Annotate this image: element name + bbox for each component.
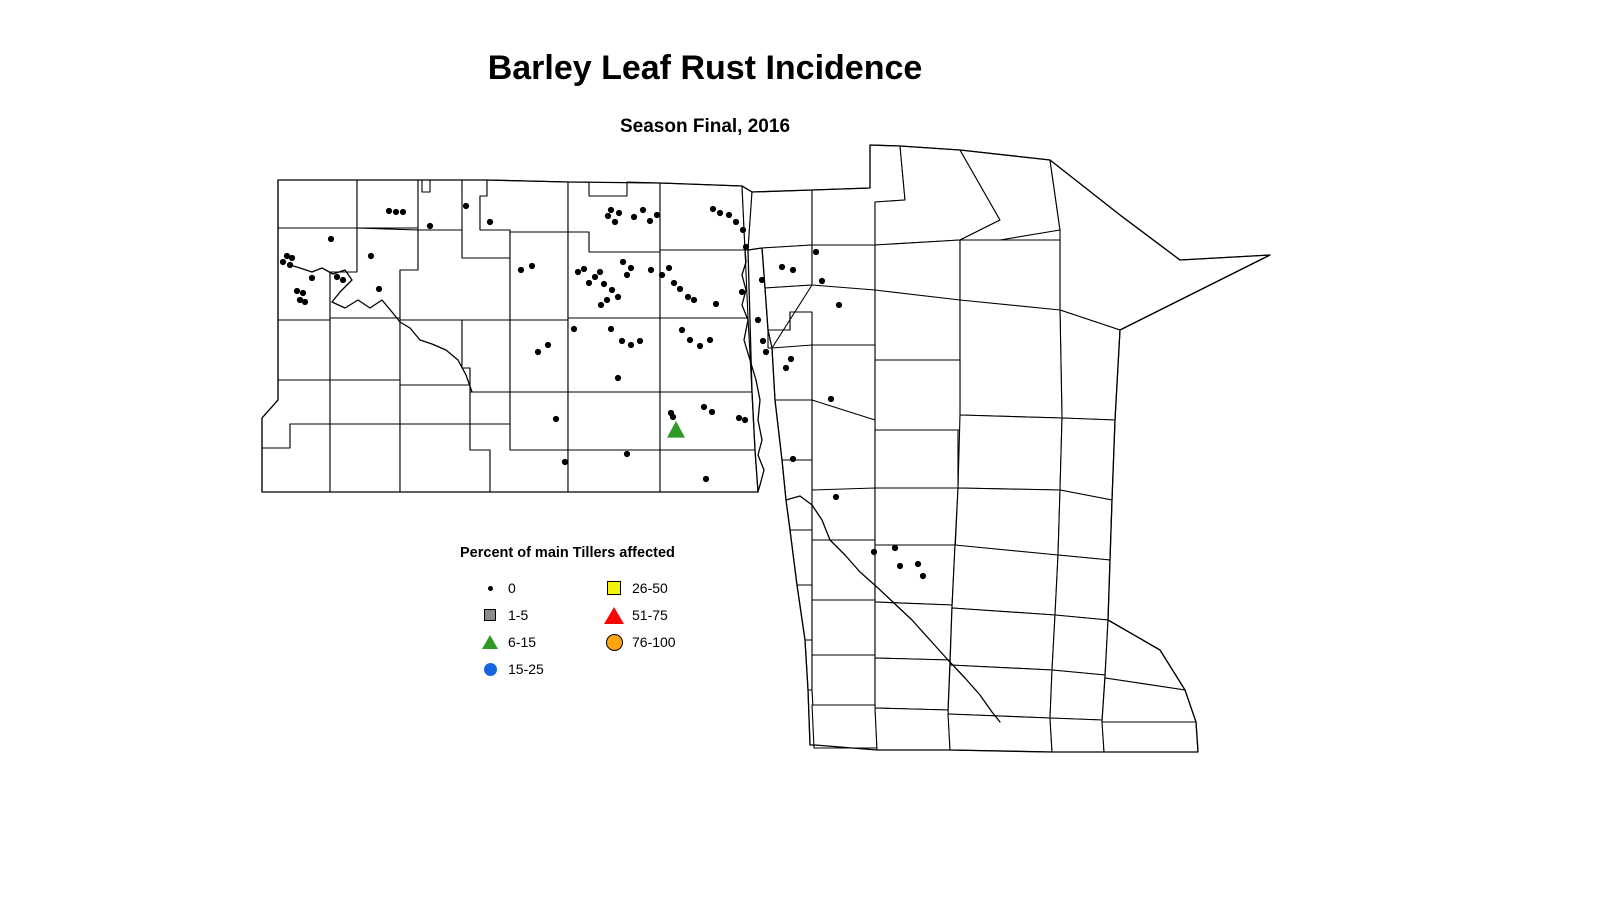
legend-label-0: 0 <box>508 580 516 596</box>
north-dakota-counties <box>262 180 758 492</box>
map-point-dot[interactable] <box>637 338 643 344</box>
map-page: Barley Leaf Rust Incidence Season Final,… <box>0 0 1612 900</box>
map-point-dot[interactable] <box>562 459 568 465</box>
map-point-dot[interactable] <box>386 208 392 214</box>
legend-label-51-75: 51-75 <box>632 607 668 623</box>
map-point-dot[interactable] <box>670 414 676 420</box>
map-point-dot[interactable] <box>604 297 610 303</box>
map-point-dot[interactable] <box>779 264 785 270</box>
map-point-dot[interactable] <box>920 573 926 579</box>
map-point-dot[interactable] <box>707 337 713 343</box>
map-point-dot[interactable] <box>739 289 745 295</box>
map-point-dot[interactable] <box>601 281 607 287</box>
map-point-dot[interactable] <box>836 302 842 308</box>
map-point-dot[interactable] <box>828 396 834 402</box>
map-point-dot[interactable] <box>659 272 665 278</box>
map-point-dot[interactable] <box>647 218 653 224</box>
map-point-dot[interactable] <box>892 545 898 551</box>
map-svg <box>0 0 1612 900</box>
map-point-dot[interactable] <box>300 290 306 296</box>
map-point-dot[interactable] <box>701 404 707 410</box>
map-point-dot[interactable] <box>581 266 587 272</box>
map-point-dot[interactable] <box>897 563 903 569</box>
minnesota-counties <box>748 145 1270 752</box>
map-point-dot[interactable] <box>615 294 621 300</box>
map-point-dot[interactable] <box>340 277 346 283</box>
map-point-dot[interactable] <box>640 207 646 213</box>
map-point-dot[interactable] <box>677 286 683 292</box>
map-point-dot[interactable] <box>819 278 825 284</box>
map-point-dot[interactable] <box>598 302 604 308</box>
legend-label-6-15: 6-15 <box>508 634 536 650</box>
legend-label-26-50: 26-50 <box>632 580 668 596</box>
map-point-dot[interactable] <box>529 263 535 269</box>
map-point-dot[interactable] <box>709 409 715 415</box>
map-point-dot[interactable] <box>620 259 626 265</box>
legend-label-1-5: 1-5 <box>508 607 528 623</box>
map-point-dot[interactable] <box>871 549 877 555</box>
map-point-dot[interactable] <box>813 249 819 255</box>
map-point-dot[interactable] <box>915 561 921 567</box>
map-point-dot[interactable] <box>575 269 581 275</box>
legend: Percent of main Tillers affected 0 1-5 6… <box>460 545 720 690</box>
map-point-dot[interactable] <box>788 356 794 362</box>
map-point-dot[interactable] <box>597 269 603 275</box>
map-canvas[interactable] <box>0 0 1612 900</box>
map-point-dot[interactable] <box>427 223 433 229</box>
map-point-dot[interactable] <box>833 494 839 500</box>
map-point-dot[interactable] <box>628 342 634 348</box>
map-point-dot[interactable] <box>759 277 765 283</box>
small-black-dot-icon <box>478 577 502 599</box>
map-point-dot[interactable] <box>619 338 625 344</box>
map-point-dot[interactable] <box>616 210 622 216</box>
map-point-dot[interactable] <box>717 210 723 216</box>
map-point-dot[interactable] <box>605 213 611 219</box>
map-point-dot[interactable] <box>571 326 577 332</box>
map-point-dot[interactable] <box>631 214 637 220</box>
map-point-dot[interactable] <box>393 209 399 215</box>
red-triangle-icon <box>602 604 626 626</box>
map-point-dot[interactable] <box>400 209 406 215</box>
map-point-dot[interactable] <box>679 327 685 333</box>
map-point-dot[interactable] <box>334 274 340 280</box>
map-point-dot[interactable] <box>733 219 739 225</box>
map-point-dot[interactable] <box>783 365 789 371</box>
map-point-dot[interactable] <box>518 267 524 273</box>
map-point-dot[interactable] <box>463 203 469 209</box>
map-point-dot[interactable] <box>713 301 719 307</box>
map-point-dot[interactable] <box>624 272 630 278</box>
map-point-dot[interactable] <box>609 287 615 293</box>
legend-label-76-100: 76-100 <box>632 634 676 650</box>
green-triangle-icon <box>478 631 502 653</box>
map-point-dot[interactable] <box>289 255 295 261</box>
blue-circle-icon <box>478 658 502 680</box>
map-point-dot[interactable] <box>545 342 551 348</box>
map-point-dot[interactable] <box>726 212 732 218</box>
map-point-dot[interactable] <box>790 456 796 462</box>
map-point-dot[interactable] <box>368 253 374 259</box>
map-point-dot[interactable] <box>535 349 541 355</box>
legend-label-15-25: 15-25 <box>508 661 544 677</box>
map-point-dot[interactable] <box>790 267 796 273</box>
map-point-dot[interactable] <box>376 286 382 292</box>
map-point-dot[interactable] <box>608 326 614 332</box>
map-point-dot[interactable] <box>487 219 493 225</box>
map-point-dot[interactable] <box>666 265 672 271</box>
map-point-dot[interactable] <box>710 206 716 212</box>
map-point-dot[interactable] <box>553 416 559 422</box>
map-point-dot[interactable] <box>687 337 693 343</box>
map-point-dot[interactable] <box>755 317 761 323</box>
map-point-dot[interactable] <box>703 476 709 482</box>
map-point-dot[interactable] <box>309 275 315 281</box>
map-point-dot[interactable] <box>763 349 769 355</box>
map-point-dot[interactable] <box>671 280 677 286</box>
map-point-dot[interactable] <box>592 274 598 280</box>
map-point-dot[interactable] <box>654 212 660 218</box>
map-point-dot[interactable] <box>691 297 697 303</box>
map-point-dot[interactable] <box>608 207 614 213</box>
map-point-dot[interactable] <box>302 299 308 305</box>
map-point-dot[interactable] <box>615 375 621 381</box>
map-point-dot[interactable] <box>612 219 618 225</box>
orange-circle-icon <box>602 631 626 653</box>
map-point-dot[interactable] <box>648 267 654 273</box>
map-point-dot[interactable] <box>328 236 334 242</box>
map-point-dot[interactable] <box>624 451 630 457</box>
map-point-dot[interactable] <box>742 417 748 423</box>
map-point-dot[interactable] <box>628 265 634 271</box>
map-point-dot[interactable] <box>287 262 293 268</box>
map-point-dot[interactable] <box>697 343 703 349</box>
legend-title: Percent of main Tillers affected <box>460 545 675 561</box>
map-point-dot[interactable] <box>685 294 691 300</box>
map-point-dot[interactable] <box>294 288 300 294</box>
map-point-dot[interactable] <box>760 338 766 344</box>
yellow-square-icon <box>602 577 626 599</box>
map-point-dot[interactable] <box>280 259 286 265</box>
map-point-dot[interactable] <box>736 415 742 421</box>
map-point-dot[interactable] <box>586 280 592 286</box>
map-point-dot[interactable] <box>743 244 749 250</box>
grey-square-icon <box>478 604 502 626</box>
map-point-dot[interactable] <box>740 227 746 233</box>
